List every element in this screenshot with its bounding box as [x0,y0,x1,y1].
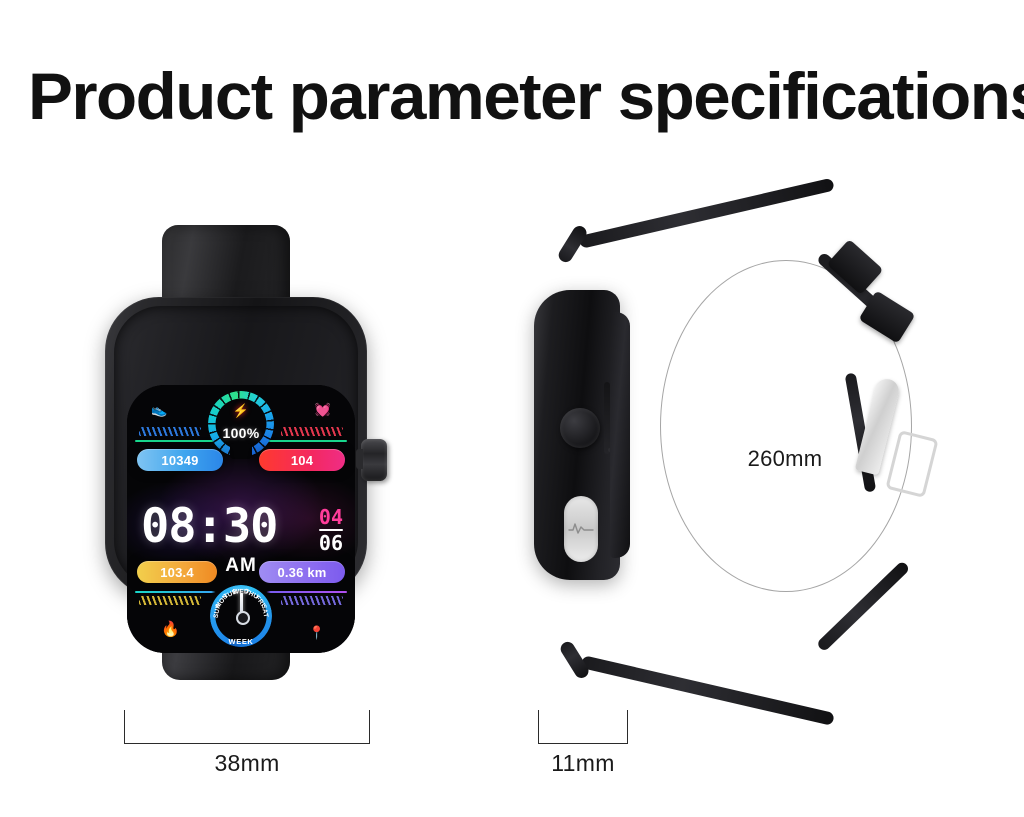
date-month: 06 [319,533,343,553]
heart-hatch-bar [281,427,343,436]
product-spec-page: Product parameter specifications 👟 💓 [0,0,1024,817]
thickness-dimension-bracket [538,710,628,744]
week-dial: SUNMONTUEWEDTHUFRISAT WEEK [210,585,272,647]
week-dial-hub [236,611,250,625]
width-dimension-label: 38mm [124,750,370,777]
date-display: 04 06 [319,507,343,553]
smartwatch-side-view: 260mm [520,228,970,678]
watch-case: 👟 💓 ⚡ 100% 10349 104 08:30 [105,297,367,597]
distance-value: 0.36 km [259,561,345,583]
lightning-bolt-icon: ⚡ [233,404,249,417]
time-display: 08:30 [141,503,277,550]
heart-rate-value: 104 [259,449,345,471]
distance-hatch-bar [281,596,343,605]
side-speaker-grill [608,448,626,452]
thickness-dimension-label: 11mm [538,750,628,777]
watch-screen[interactable]: 👟 💓 ⚡ 100% 10349 104 08:30 [127,385,355,653]
shoe-icon: 👟 [151,403,167,416]
steps-hatch-bar [139,427,201,436]
ampm-label: AM [225,555,257,577]
location-pin-icon: 📍 [309,626,325,639]
side-case-slot [604,382,610,454]
steps-value: 10349 [137,449,223,471]
battery-ring-gap [230,443,252,459]
calories-value: 103.4 [137,561,217,583]
side-strap-upper [579,178,835,249]
side-case [534,290,620,580]
heart-pulse-icon: 💓 [315,403,331,416]
crown-button-icon[interactable] [361,439,387,481]
week-dial-label: WEEK [229,637,254,646]
date-day: 04 [319,507,343,527]
battery-percent-label: 100% [222,425,259,441]
flame-icon: 🔥 [161,622,180,637]
page-title: Product parameter specifications [28,58,1024,134]
calories-hatch-bar [139,596,201,605]
smartwatch-front-view: 👟 💓 ⚡ 100% 10349 104 08:30 [100,225,390,680]
side-button-icon[interactable] [560,408,600,448]
width-dimension-bracket [124,710,370,744]
ecg-sensor-icon [564,496,598,562]
battery-ring-gauge: ⚡ 100% [208,391,274,457]
